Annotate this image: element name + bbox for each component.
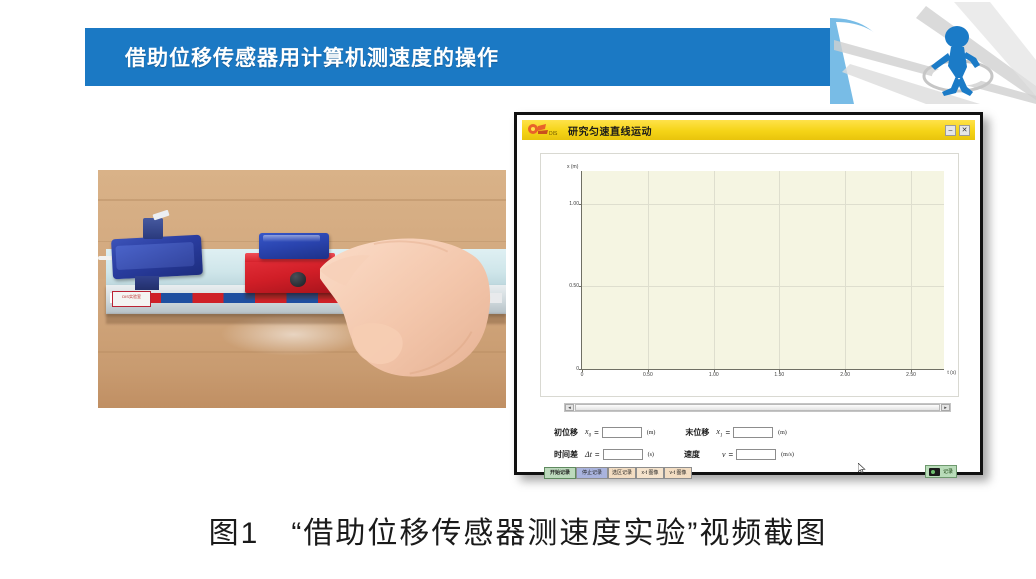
field-velocity: 速度 v = (m/s) bbox=[684, 449, 794, 460]
walking-figure-illustration bbox=[830, 0, 1036, 108]
field-unit: (m/s) bbox=[781, 452, 794, 458]
gridline-horizontal bbox=[582, 204, 944, 205]
field-label: 时间差 bbox=[554, 449, 578, 460]
sensor-top-knob bbox=[143, 218, 163, 239]
gridline-vertical bbox=[779, 171, 780, 369]
field-time-interval: 时间差 Δt = (s) bbox=[554, 449, 654, 460]
decorative-header-artwork bbox=[830, 0, 1036, 108]
y-axis-title: x (m) bbox=[567, 164, 578, 170]
displacement-sensor-face bbox=[116, 242, 195, 270]
window-content-area: x (m) t (s) 0 0.50 1.00 bbox=[522, 141, 975, 467]
field-equals: = bbox=[595, 450, 600, 459]
y-tick-label: 1.00 bbox=[569, 201, 579, 207]
field-final-displacement: 末位移 x1 = (m) bbox=[685, 427, 786, 439]
slide-header-bar: 借助位移传感器用计算机测速度的操作 bbox=[85, 28, 895, 86]
experiment-photo: DIS实验室 bbox=[98, 170, 506, 408]
field-label: 速度 bbox=[684, 449, 700, 460]
select-region-button[interactable]: 选区记录 bbox=[608, 467, 636, 479]
field-equals: = bbox=[725, 428, 730, 437]
x-tick-label: 2.00 bbox=[840, 372, 850, 378]
initial-displacement-input[interactable] bbox=[602, 427, 642, 438]
hand-pushing-cart bbox=[314, 225, 494, 377]
svg-text:DIS: DIS bbox=[549, 131, 558, 137]
x-tick-label: 0.50 bbox=[643, 372, 653, 378]
measurement-software-window[interactable]: DIS 研究匀速直线运动 – ✕ x (m) t (s) bbox=[514, 112, 983, 475]
scroll-right-icon[interactable]: ▸ bbox=[941, 404, 950, 411]
window-titlebar[interactable]: DIS 研究匀速直线运动 – ✕ bbox=[522, 120, 975, 140]
field-symbol: x0 bbox=[585, 427, 591, 439]
field-symbol: x1 bbox=[716, 427, 722, 439]
record-button[interactable]: 记录 bbox=[925, 465, 957, 478]
figure-caption: 图1 “借助位移传感器测速度实验”视频截图 bbox=[0, 508, 1036, 552]
mouse-cursor-icon bbox=[858, 463, 866, 473]
track-brand-label: DIS实验室 bbox=[112, 291, 151, 307]
minimize-icon[interactable]: – bbox=[945, 125, 956, 136]
window-controls-group[interactable]: – ✕ bbox=[945, 125, 970, 136]
velocity-input[interactable] bbox=[736, 449, 776, 460]
field-unit: (m) bbox=[647, 430, 656, 436]
vt-graph-button[interactable]: v-t 图像 bbox=[664, 467, 692, 479]
stop-record-button[interactable]: 停止记录 bbox=[576, 467, 608, 479]
field-symbol: Δt bbox=[585, 450, 592, 459]
final-displacement-input[interactable] bbox=[733, 427, 773, 438]
camera-icon bbox=[929, 468, 940, 476]
field-initial-displacement: 初位移 x0 = (m) bbox=[554, 427, 655, 439]
y-tick-label: 0.50 bbox=[569, 283, 579, 289]
gridline-horizontal bbox=[582, 286, 944, 287]
sensor-mounting-foot bbox=[135, 276, 159, 290]
record-button-label: 记录 bbox=[943, 468, 953, 475]
cart-adjustment-knob bbox=[290, 272, 306, 286]
scroll-left-icon[interactable]: ◂ bbox=[565, 404, 574, 411]
field-label: 末位移 bbox=[685, 427, 709, 438]
field-unit: (s) bbox=[648, 452, 654, 458]
scrollbar-thumb[interactable] bbox=[575, 404, 940, 411]
toolbar-button-group[interactable]: 开始记录 停止记录 选区记录 x-t 图像 v-t 图像 bbox=[544, 467, 692, 479]
xt-graph-button[interactable]: x-t 图像 bbox=[636, 467, 664, 479]
start-record-button[interactable]: 开始记录 bbox=[544, 467, 576, 479]
gridline-vertical bbox=[911, 171, 912, 369]
desk-grain-line bbox=[98, 199, 506, 201]
x-tick-label: 1.00 bbox=[709, 372, 719, 378]
form-row-time-velocity: 时间差 Δt = (s) 速度 v = (m/s) bbox=[554, 446, 959, 463]
gridline-vertical bbox=[845, 171, 846, 369]
x-axis-title: t (s) bbox=[947, 370, 956, 376]
form-row-displacement: 初位移 x0 = (m) 末位移 x1 = (m) bbox=[554, 424, 959, 441]
window-title: 研究匀速直线运动 bbox=[568, 123, 652, 138]
page-title: 借助位移传感器用计算机测速度的操作 bbox=[125, 42, 499, 72]
blue-block-highlight bbox=[263, 235, 320, 242]
field-equals: = bbox=[594, 428, 599, 437]
x-tick-label: 2.50 bbox=[906, 372, 916, 378]
plot-area[interactable]: 0 0.50 1.00 0 0.50 1.00 1.50 2.00 2.50 bbox=[581, 171, 944, 370]
field-unit: (m) bbox=[778, 430, 787, 436]
y-tick-label: 0 bbox=[576, 366, 579, 372]
close-icon[interactable]: ✕ bbox=[959, 125, 970, 136]
chart-horizontal-scrollbar[interactable]: ◂ ▸ bbox=[564, 403, 951, 412]
x-tick-label: 1.50 bbox=[774, 372, 784, 378]
y-tick-mark bbox=[579, 204, 582, 205]
track-brand-text: DIS实验室 bbox=[113, 292, 150, 301]
field-equals: = bbox=[729, 450, 734, 459]
x-tick-label: 0 bbox=[581, 372, 584, 378]
time-interval-input[interactable] bbox=[603, 449, 643, 460]
y-tick-mark bbox=[579, 286, 582, 287]
field-symbol: v bbox=[722, 450, 726, 459]
chart-panel[interactable]: x (m) t (s) 0 0.50 1.00 bbox=[540, 153, 959, 397]
gridline-vertical bbox=[648, 171, 649, 369]
app-logo-icon: DIS bbox=[526, 122, 560, 138]
field-label: 初位移 bbox=[554, 427, 578, 438]
gridline-vertical bbox=[714, 171, 715, 369]
